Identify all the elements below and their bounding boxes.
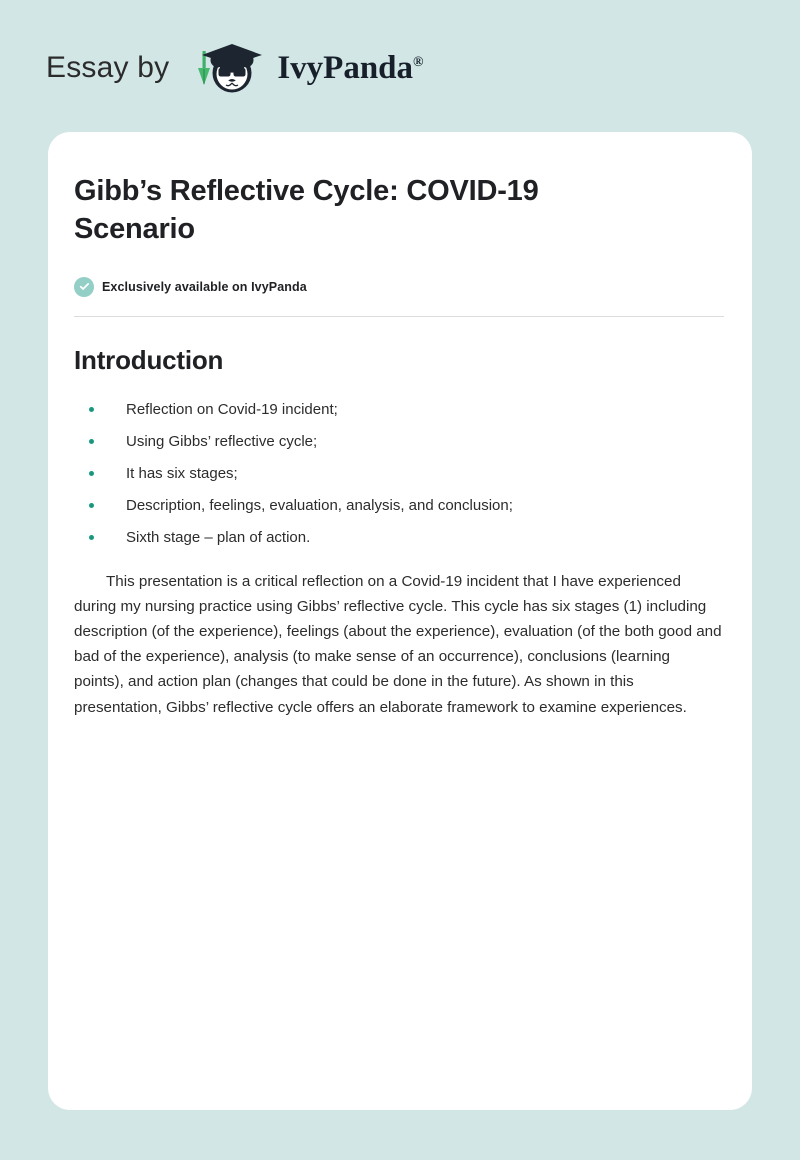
list-item: Sixth stage – plan of action.: [74, 530, 722, 545]
title-divider: [74, 316, 724, 317]
list-item-label: Sixth stage – plan of action.: [126, 529, 310, 546]
essay-by-label: Essay by: [46, 53, 169, 83]
introduction-bullet-list: Reflection on Covid-19 incident; Using G…: [74, 402, 722, 545]
section-heading-introduction: Introduction: [74, 345, 722, 376]
page-title: Gibb’s Reflective Cycle: COVID-19 Scenar…: [74, 172, 654, 249]
ivypanda-wordmark: IvyPanda®: [277, 52, 423, 85]
ivypanda-panda-graduate-logo: [187, 38, 269, 98]
list-item-label: Description, feelings, evaluation, analy…: [126, 497, 513, 514]
list-item-label: It has six stages;: [126, 465, 238, 482]
introduction-paragraph: This presentation is a critical reflecti…: [74, 569, 722, 720]
exclusivity-badge-label: Exclusively available on IvyPanda: [102, 280, 307, 294]
brand-header: Essay by IvyPanda®: [46, 38, 424, 98]
document-card: Gibb’s Reflective Cycle: COVID-19 Scenar…: [48, 132, 752, 1110]
brand-name-text: IvyPanda: [277, 50, 413, 86]
exclusivity-badge: Exclusively available on IvyPanda: [74, 277, 722, 297]
list-item: It has six stages;: [74, 466, 722, 481]
list-item-label: Using Gibbs’ reflective cycle;: [126, 433, 317, 450]
document-content: Gibb’s Reflective Cycle: COVID-19 Scenar…: [48, 132, 752, 720]
verified-check-icon: [74, 277, 94, 297]
list-item: Reflection on Covid-19 incident;: [74, 402, 722, 417]
list-item-label: Reflection on Covid-19 incident;: [126, 401, 338, 418]
list-item: Using Gibbs’ reflective cycle;: [74, 434, 722, 449]
registered-trademark-icon: ®: [413, 55, 423, 70]
list-item: Description, feelings, evaluation, analy…: [74, 498, 722, 513]
